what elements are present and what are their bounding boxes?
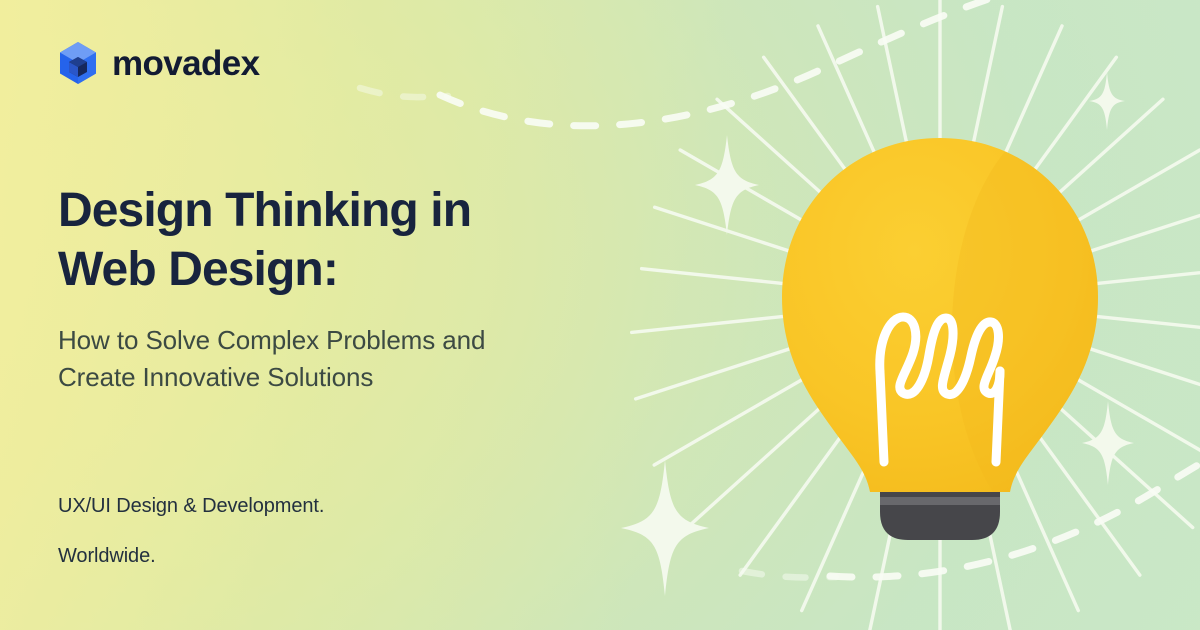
brand-logo[interactable]: movadex [58,41,260,85]
footer-line-location: Worldwide. [58,546,618,566]
subhead-line-2: Create Innovative Solutions [58,362,373,392]
headline-line-1: Design Thinking in [58,184,471,237]
light-rays [632,0,1200,630]
brand-wordmark: movadex [112,46,260,81]
bulb-glass [782,115,1192,545]
footer-line-services: UX/UI Design & Development. [58,496,618,516]
sparkles [621,72,1134,596]
headline-line-2: Web Design: [58,243,338,296]
social-banner: movadex Design Thinking in Web Design: H… [0,0,1200,630]
page-title: Design Thinking in Web Design: [58,181,618,299]
bulb-filament [880,317,1000,462]
sparkle-bottom-center [621,460,709,596]
dashed-curve-bottom [830,458,1200,577]
cube-logo-icon [58,41,98,85]
footer-tagline: UX/UI Design & Development. Worldwide. [58,496,618,566]
sparkle-right-middle [1082,401,1134,485]
sparkle-top-right [1089,72,1125,130]
subhead-line-1: How to Solve Complex Problems and [58,325,485,355]
bulb-base [880,452,1000,540]
page-subtitle: How to Solve Complex Problems and Create… [58,322,618,396]
dashed-curve-top [440,0,1030,126]
sparkle-top-left-of-bulb [695,135,759,235]
